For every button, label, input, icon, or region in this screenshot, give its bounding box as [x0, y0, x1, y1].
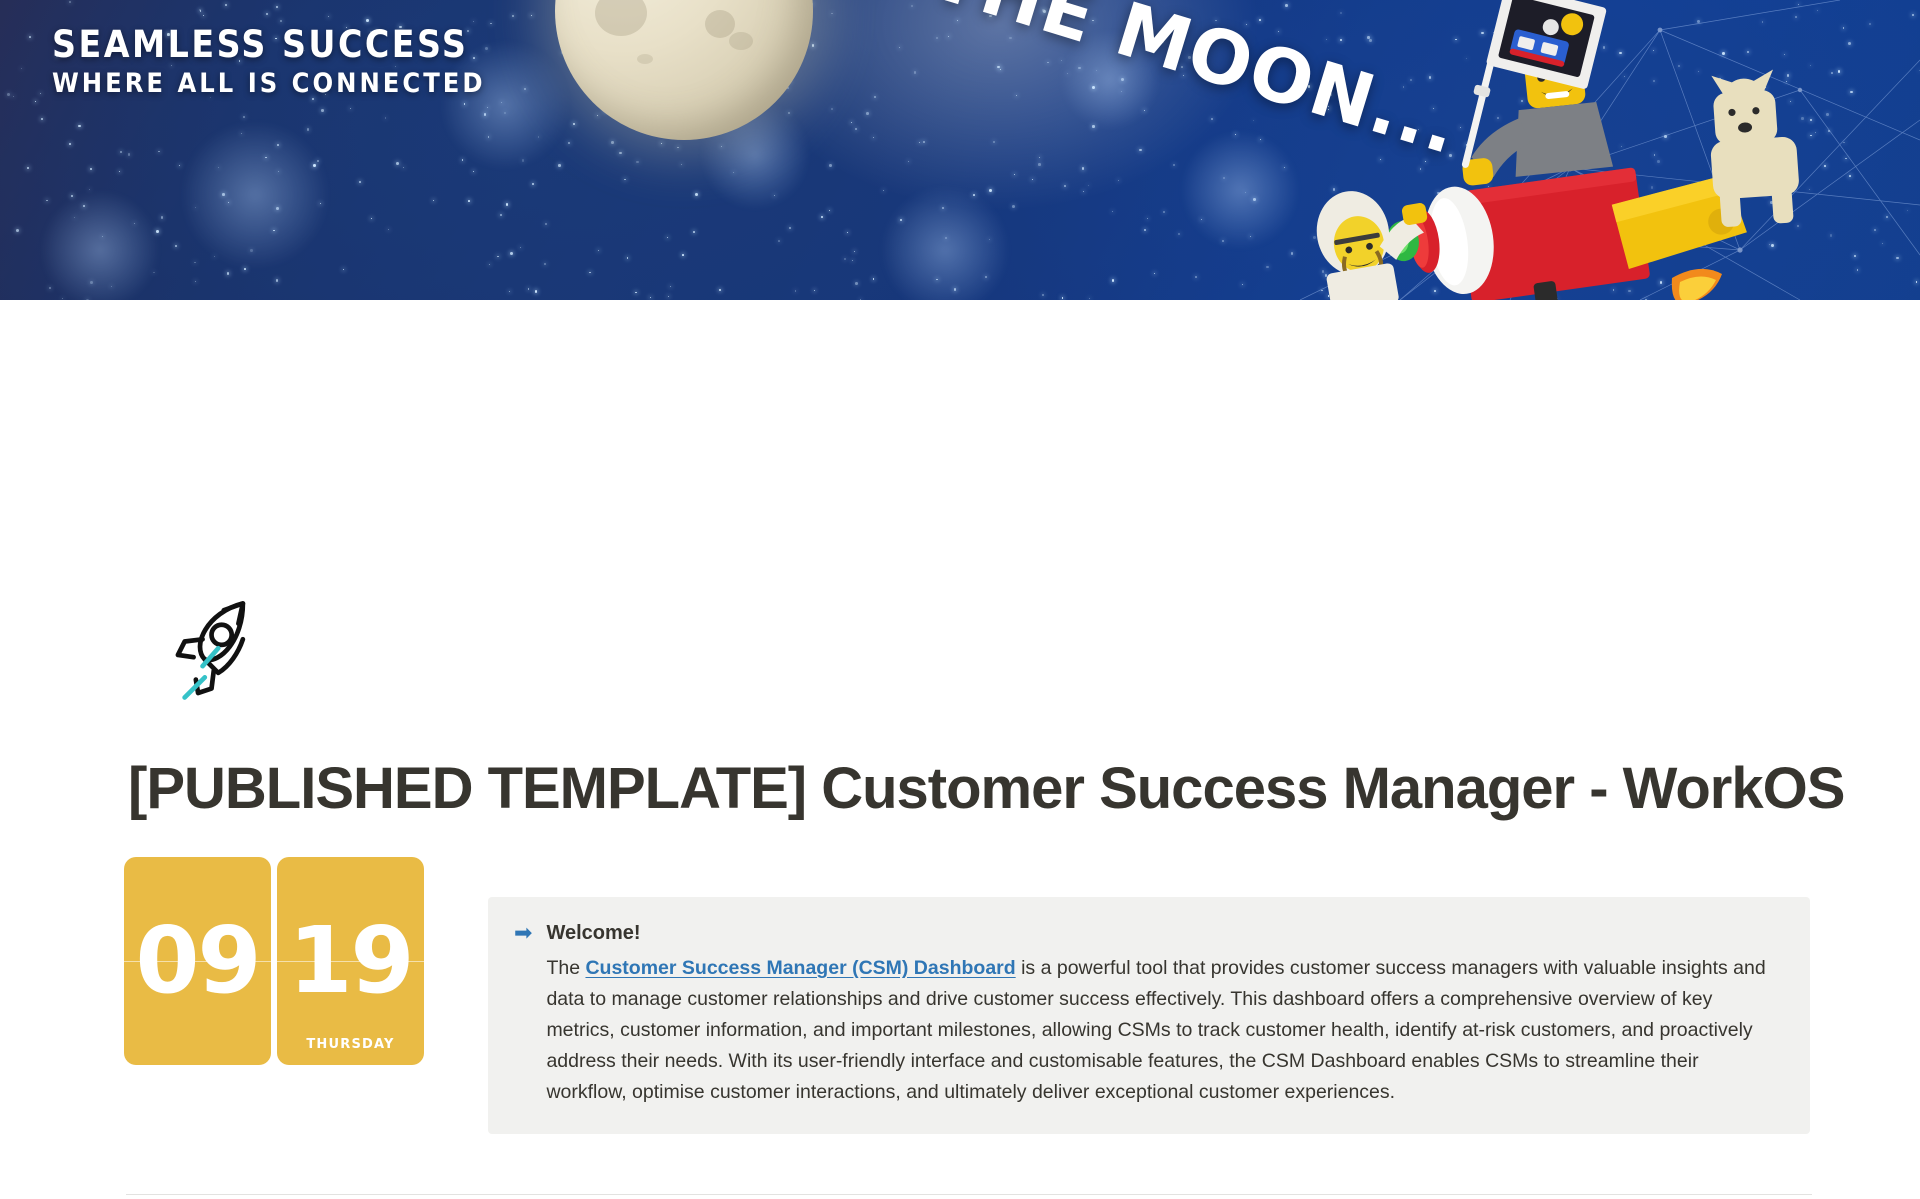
callout-title: Welcome!	[546, 919, 1784, 947]
flip-divider	[277, 961, 424, 962]
page-icon-tile[interactable]	[138, 568, 294, 724]
page-title[interactable]: [PUBLISHED TEMPLATE] Customer Success Ma…	[128, 755, 1844, 823]
callout-text-before: The	[546, 957, 585, 979]
csm-dashboard-link[interactable]: Customer Success Manager (CSM) Dashboard	[585, 957, 1015, 979]
section-divider	[126, 1194, 1812, 1195]
date-dayofweek-value: THURSDAY	[277, 1037, 424, 1052]
flip-divider	[124, 961, 271, 962]
banner-headline-line1: SEAMLESS SUCCESS	[52, 24, 486, 66]
nebula-glow	[180, 120, 330, 270]
nebula-glow	[40, 190, 160, 300]
banner-headline: SEAMLESS SUCCESS WHERE ALL IS CONNECTED	[52, 24, 486, 100]
date-widget[interactable]: 09 19 THURSDAY	[124, 857, 424, 1065]
banner-headline-line2: WHERE ALL IS CONNECTED	[52, 68, 486, 100]
welcome-callout: ➡ Welcome! The Customer Success Manager …	[488, 897, 1810, 1134]
lego-rocket-graphic	[1260, 0, 1920, 300]
date-month-card: 09	[124, 857, 271, 1065]
date-day-card: 19 THURSDAY	[277, 857, 424, 1065]
callout-body: Welcome! The Customer Success Manager (C…	[546, 919, 1784, 1108]
arrow-right-icon: ➡	[514, 920, 532, 1108]
callout-text: The Customer Success Manager (CSM) Dashb…	[546, 953, 1784, 1108]
page-cover-banner: SEAMLESS SUCCESS WHERE ALL IS CONNECTED …	[0, 0, 1920, 300]
rocket-icon	[160, 590, 272, 702]
